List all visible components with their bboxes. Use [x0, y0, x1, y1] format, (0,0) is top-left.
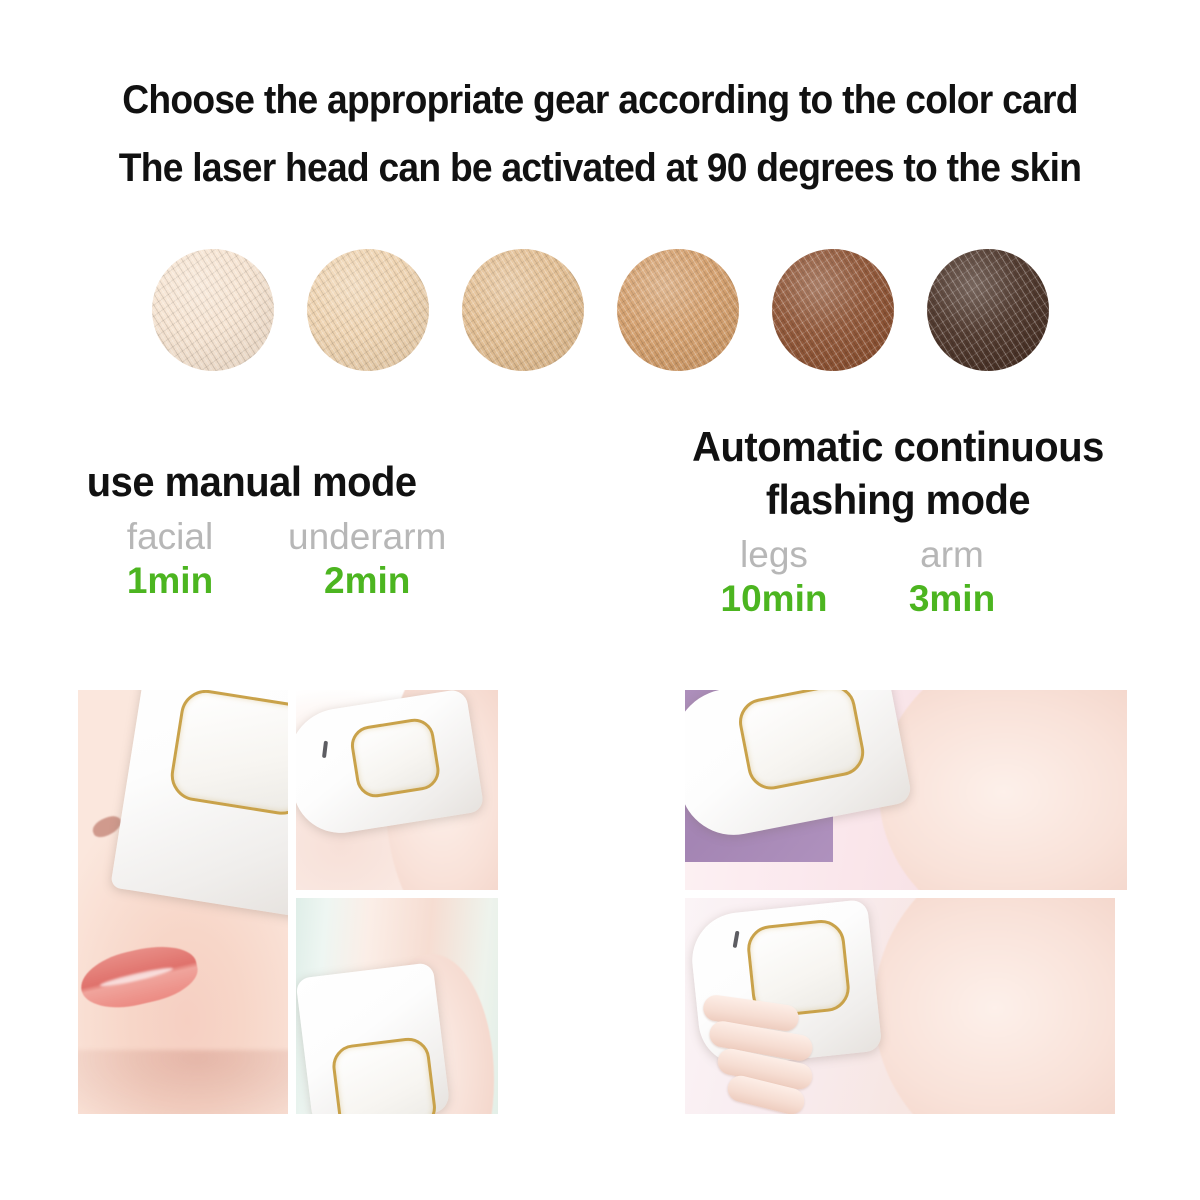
skin-tone-swatch-5[interactable] [772, 249, 894, 371]
automatic-mode-photo-collage [685, 690, 1127, 1114]
area-arm-time: 3min [882, 577, 1022, 621]
manual-mode-areas: facial 1min underarm 2min [62, 514, 602, 603]
area-arm-label: arm [882, 532, 1022, 577]
skin-tone-swatch-4[interactable] [617, 249, 739, 371]
manual-mode-block: use manual mode facial 1min underarm 2mi… [62, 455, 602, 603]
area-underarm: underarm 2min [288, 514, 446, 603]
manual-mode-title: use manual mode [62, 455, 575, 508]
area-facial-label: facial [100, 514, 240, 559]
area-arm: arm 3min [882, 532, 1022, 621]
skin-tone-color-card [152, 245, 1052, 375]
photo-legs [685, 690, 1127, 890]
automatic-mode-title-line-2: flashing mode [623, 473, 1174, 526]
ipl-device-underarm-bottom [296, 962, 451, 1114]
area-legs: legs 10min [704, 532, 844, 621]
automatic-mode-title-line-1: Automatic continuous [623, 420, 1174, 473]
indicator-led-icon [733, 931, 740, 948]
area-facial-time: 1min [100, 559, 240, 603]
area-underarm-label: underarm [288, 514, 446, 559]
photo-underarm-bottom [296, 898, 498, 1114]
area-facial: facial 1min [100, 514, 240, 603]
flash-window-icon [735, 690, 868, 794]
ipl-device-face [110, 690, 288, 918]
flash-window-icon [330, 1035, 438, 1114]
area-legs-label: legs [704, 532, 844, 577]
flash-window-icon [348, 716, 442, 800]
headline: Choose the appropriate gear according to… [0, 66, 1200, 202]
skin-tone-swatch-1[interactable] [152, 249, 274, 371]
headline-line-2: The laser head can be activated at 90 de… [42, 134, 1158, 202]
manual-mode-photo-collage [78, 690, 498, 1114]
skin-tone-swatch-2[interactable] [307, 249, 429, 371]
automatic-mode-areas: legs 10min arm 3min [608, 532, 1188, 621]
automatic-mode-block: Automatic continuous flashing mode legs … [608, 420, 1188, 621]
skin-tone-swatch-6[interactable] [927, 249, 1049, 371]
indicator-led-icon [322, 741, 328, 758]
leg-shape [879, 690, 1127, 890]
area-legs-time: 10min [704, 577, 844, 621]
headline-line-1: Choose the appropriate gear according to… [42, 66, 1158, 134]
photo-face [78, 690, 288, 1114]
photo-underarm-top [296, 690, 498, 890]
skin-tone-swatch-3[interactable] [462, 249, 584, 371]
flash-window-icon [167, 690, 288, 818]
hand-holding-device [703, 994, 853, 1112]
chin-shading [78, 1050, 288, 1114]
area-underarm-time: 2min [288, 559, 446, 603]
photo-arm [685, 898, 1115, 1114]
arm-shape [874, 898, 1115, 1114]
